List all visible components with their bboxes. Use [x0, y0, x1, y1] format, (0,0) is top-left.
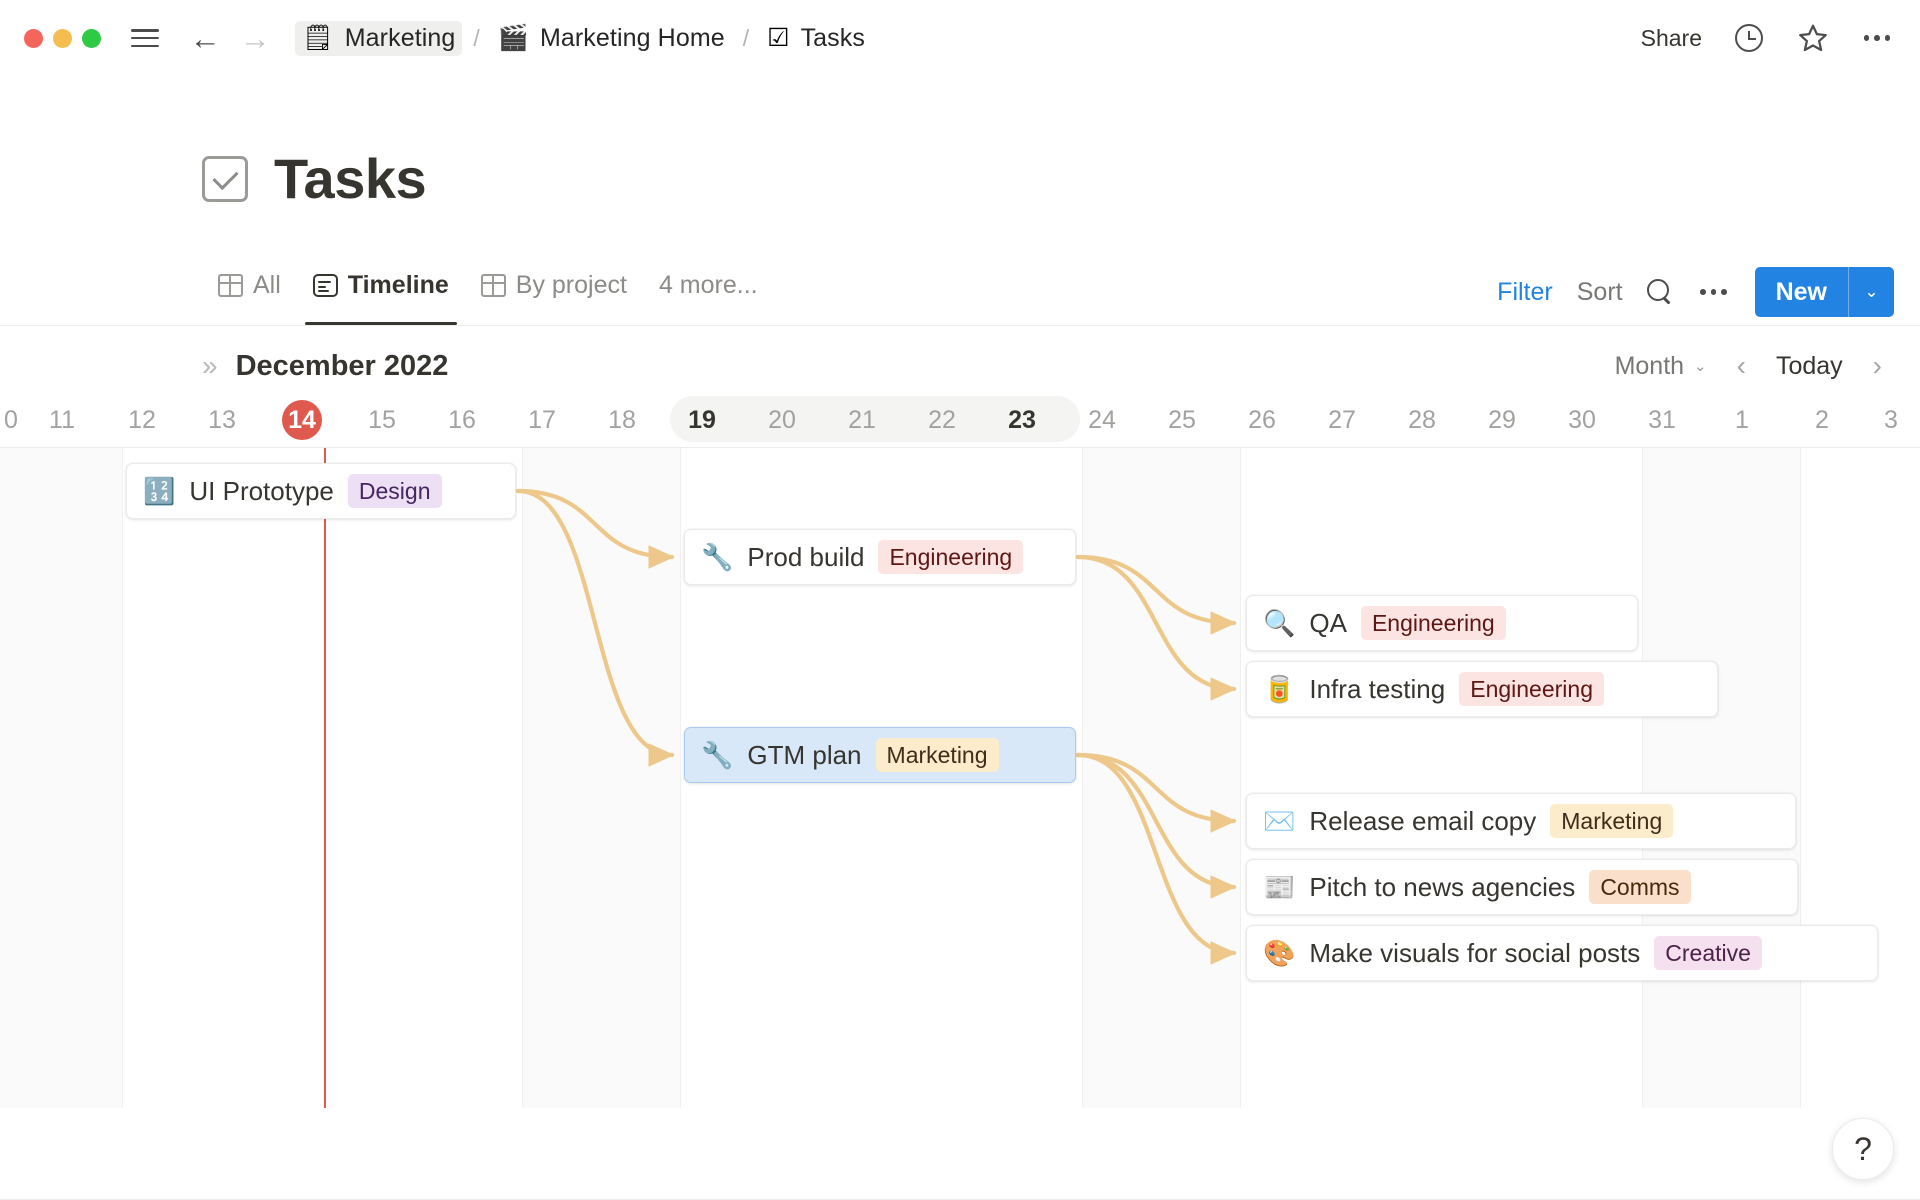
card-tag: Comms	[1589, 870, 1690, 905]
card-title: GTM plan	[747, 740, 861, 771]
grid-line	[1082, 448, 1083, 1108]
ruler-day-31[interactable]: 31	[1622, 392, 1702, 448]
back-arrow-icon[interactable]: ←	[191, 24, 219, 52]
timeline-control-right: Month ⌄ ‹ Today ›	[1615, 350, 1886, 382]
tab-label: Timeline	[348, 271, 449, 300]
tabs-more-button[interactable]: 4 more...	[643, 271, 774, 312]
timeline-card-pitch-news[interactable]: 📰Pitch to news agenciesComms	[1246, 859, 1798, 915]
timeline-card-ui-prototype[interactable]: 🔢UI PrototypeDesign	[126, 463, 516, 519]
timeline-month-label: December 2022	[236, 350, 449, 383]
ruler-day-2[interactable]: 2	[1782, 392, 1862, 448]
card-emoji-icon: 🔢	[143, 478, 175, 504]
table-icon	[481, 274, 506, 297]
card-title: UI Prototype	[189, 476, 334, 507]
double-chevron-right-icon[interactable]: »	[202, 350, 214, 382]
grid-line	[1240, 448, 1241, 1108]
view-toolbar: Filter Sort New ⌄	[1497, 267, 1894, 317]
card-tag: Marketing	[876, 738, 999, 773]
timeline-scale-label: Month	[1615, 352, 1684, 381]
card-tag: Creative	[1654, 936, 1762, 971]
ruler-day-26[interactable]: 26	[1222, 392, 1302, 448]
clapper-board-icon: 🎬	[498, 26, 529, 51]
ruler-day-29[interactable]: 29	[1462, 392, 1542, 448]
next-period-button[interactable]: ›	[1869, 350, 1886, 382]
checkbox-icon: ☑	[767, 26, 789, 51]
clock-icon[interactable]	[1732, 21, 1766, 55]
tab-by-project[interactable]: By project	[465, 258, 643, 325]
card-emoji-icon: 🥫	[1263, 676, 1295, 702]
timeline-card-qa[interactable]: 🔍QAEngineering	[1246, 595, 1638, 651]
window-controls	[24, 29, 101, 48]
new-button[interactable]: New	[1755, 267, 1848, 317]
timeline-card-release-email[interactable]: ✉️Release email copyMarketing	[1246, 793, 1796, 849]
page-title: Tasks	[274, 146, 426, 211]
ruler-day-25[interactable]: 25	[1142, 392, 1222, 448]
ruler-day-17[interactable]: 17	[502, 392, 582, 448]
grid-line	[122, 448, 123, 1108]
tab-label: By project	[516, 271, 627, 300]
grid-line	[1800, 448, 1801, 1108]
timeline-control-left: » December 2022	[202, 350, 448, 383]
hamburger-icon[interactable]	[131, 27, 161, 49]
ruler-day-23[interactable]: 23	[982, 392, 1062, 448]
breadcrumb-label: Marketing	[345, 24, 456, 53]
ruler-day-0[interactable]: 0	[0, 392, 22, 448]
ruler-day-14[interactable]: 14	[262, 392, 342, 448]
today-line	[324, 448, 326, 1108]
today-button[interactable]: Today	[1776, 352, 1843, 381]
timeline-card-gtm-plan[interactable]: 🔧GTM planMarketing	[684, 727, 1076, 783]
ruler-day-11[interactable]: 11	[22, 392, 102, 448]
breadcrumb-separator: /	[743, 25, 749, 52]
weekend-column	[1642, 448, 1800, 1108]
titlebar-actions: Share	[1641, 0, 1894, 76]
chevron-down-icon[interactable]: ⌄	[1848, 267, 1894, 317]
ruler-day-19[interactable]: 19	[662, 392, 742, 448]
timeline-scale-select[interactable]: Month ⌄	[1615, 352, 1707, 381]
breadcrumb: 🗒 Marketing / 🎬 Marketing Home / ☑ Tasks	[295, 21, 872, 56]
breadcrumb-item-marketing[interactable]: 🗒 Marketing	[295, 21, 462, 56]
grid-line	[1642, 448, 1643, 1108]
card-tag: Marketing	[1550, 804, 1673, 839]
notion-timeline-app: ← → 🗒 Marketing / 🎬 Marketing Home / ☑ T…	[0, 0, 1920, 1200]
card-emoji-icon: 🔧	[701, 742, 733, 768]
card-tag: Engineering	[1459, 672, 1604, 707]
breadcrumb-separator: /	[473, 25, 479, 52]
timeline-date-ruler[interactable]: 0111213141516171819202122232425262728293…	[0, 392, 1920, 448]
page-header: Tasks	[202, 146, 426, 211]
view-tabs-bar: All Timeline By project 4 more... Filter…	[0, 258, 1920, 326]
window-titlebar: ← → 🗒 Marketing / 🎬 Marketing Home / ☑ T…	[0, 0, 1920, 76]
card-title: QA	[1309, 608, 1347, 639]
card-title: Make visuals for social posts	[1309, 938, 1640, 969]
maximize-button[interactable]	[82, 29, 101, 48]
card-emoji-icon: 🔍	[1263, 610, 1295, 636]
notebook-icon: 🗒	[302, 26, 334, 51]
more-horizontal-icon[interactable]	[1860, 21, 1894, 55]
card-emoji-icon: ✉️	[1263, 808, 1295, 834]
grid-line	[680, 448, 681, 1108]
tab-timeline[interactable]: Timeline	[297, 258, 465, 325]
view-tabs: All Timeline By project 4 more...	[202, 258, 774, 325]
card-emoji-icon: 📰	[1263, 874, 1295, 900]
checkbox-icon	[202, 156, 248, 202]
card-emoji-icon: 🎨	[1263, 940, 1295, 966]
ruler-day-20[interactable]: 20	[742, 392, 822, 448]
forward-arrow-icon[interactable]: →	[241, 24, 269, 52]
ruler-day-12[interactable]: 12	[102, 392, 182, 448]
close-button[interactable]	[24, 29, 43, 48]
ruler-day-18[interactable]: 18	[582, 392, 662, 448]
star-icon[interactable]	[1796, 21, 1830, 55]
ruler-day-13[interactable]: 13	[182, 392, 262, 448]
weekend-column	[0, 448, 122, 1108]
breadcrumb-item-tasks[interactable]: ☑ Tasks	[760, 21, 872, 56]
tab-all[interactable]: All	[202, 258, 297, 325]
ruler-day-30[interactable]: 30	[1542, 392, 1622, 448]
minimize-button[interactable]	[53, 29, 72, 48]
card-title: Infra testing	[1309, 674, 1445, 705]
timeline-card-prod-build[interactable]: 🔧Prod buildEngineering	[684, 529, 1076, 585]
ruler-day-21[interactable]: 21	[822, 392, 902, 448]
ruler-day-16[interactable]: 16	[422, 392, 502, 448]
card-title: Prod build	[747, 542, 864, 573]
more-horizontal-icon[interactable]	[1697, 275, 1731, 309]
card-tag: Engineering	[1361, 606, 1506, 641]
card-tag: Engineering	[878, 540, 1023, 575]
sort-button[interactable]: Sort	[1577, 278, 1623, 307]
search-icon[interactable]	[1647, 279, 1673, 305]
breadcrumb-item-marketing-home[interactable]: 🎬 Marketing Home	[491, 21, 732, 56]
card-title: Pitch to news agencies	[1309, 872, 1575, 903]
card-title: Release email copy	[1309, 806, 1536, 837]
new-button-group: New ⌄	[1755, 267, 1894, 317]
ruler-day-24[interactable]: 24	[1062, 392, 1142, 448]
ruler-day-1[interactable]: 1	[1702, 392, 1782, 448]
weekend-column	[522, 448, 680, 1108]
table-icon	[218, 274, 243, 297]
grid-line	[522, 448, 523, 1108]
timeline-card-infra-testing[interactable]: 🥫Infra testingEngineering	[1246, 661, 1718, 717]
weekend-column	[1082, 448, 1240, 1108]
breadcrumb-label: Marketing Home	[540, 24, 725, 53]
tab-label: All	[253, 271, 281, 300]
timeline-icon	[313, 274, 338, 297]
ruler-day-27[interactable]: 27	[1302, 392, 1382, 448]
chevron-down-icon: ⌄	[1694, 357, 1707, 375]
help-button[interactable]: ?	[1832, 1118, 1894, 1180]
card-tag: Design	[348, 474, 442, 509]
filter-button[interactable]: Filter	[1497, 278, 1553, 307]
prev-period-button[interactable]: ‹	[1733, 350, 1750, 382]
ruler-day-3[interactable]: 3	[1862, 392, 1920, 448]
nav-arrows: ← →	[191, 24, 269, 52]
ruler-day-15[interactable]: 15	[342, 392, 422, 448]
breadcrumb-label: Tasks	[801, 24, 865, 53]
timeline-board[interactable]: + New 🔢UI PrototypeDesign🔧Prod buildEngi…	[0, 448, 1920, 1108]
share-button[interactable]: Share	[1641, 25, 1702, 52]
card-emoji-icon: 🔧	[701, 544, 733, 570]
ruler-day-28[interactable]: 28	[1382, 392, 1462, 448]
timeline-card-make-visuals[interactable]: 🎨Make visuals for social postsCreative	[1246, 925, 1878, 981]
ruler-day-22[interactable]: 22	[902, 392, 982, 448]
